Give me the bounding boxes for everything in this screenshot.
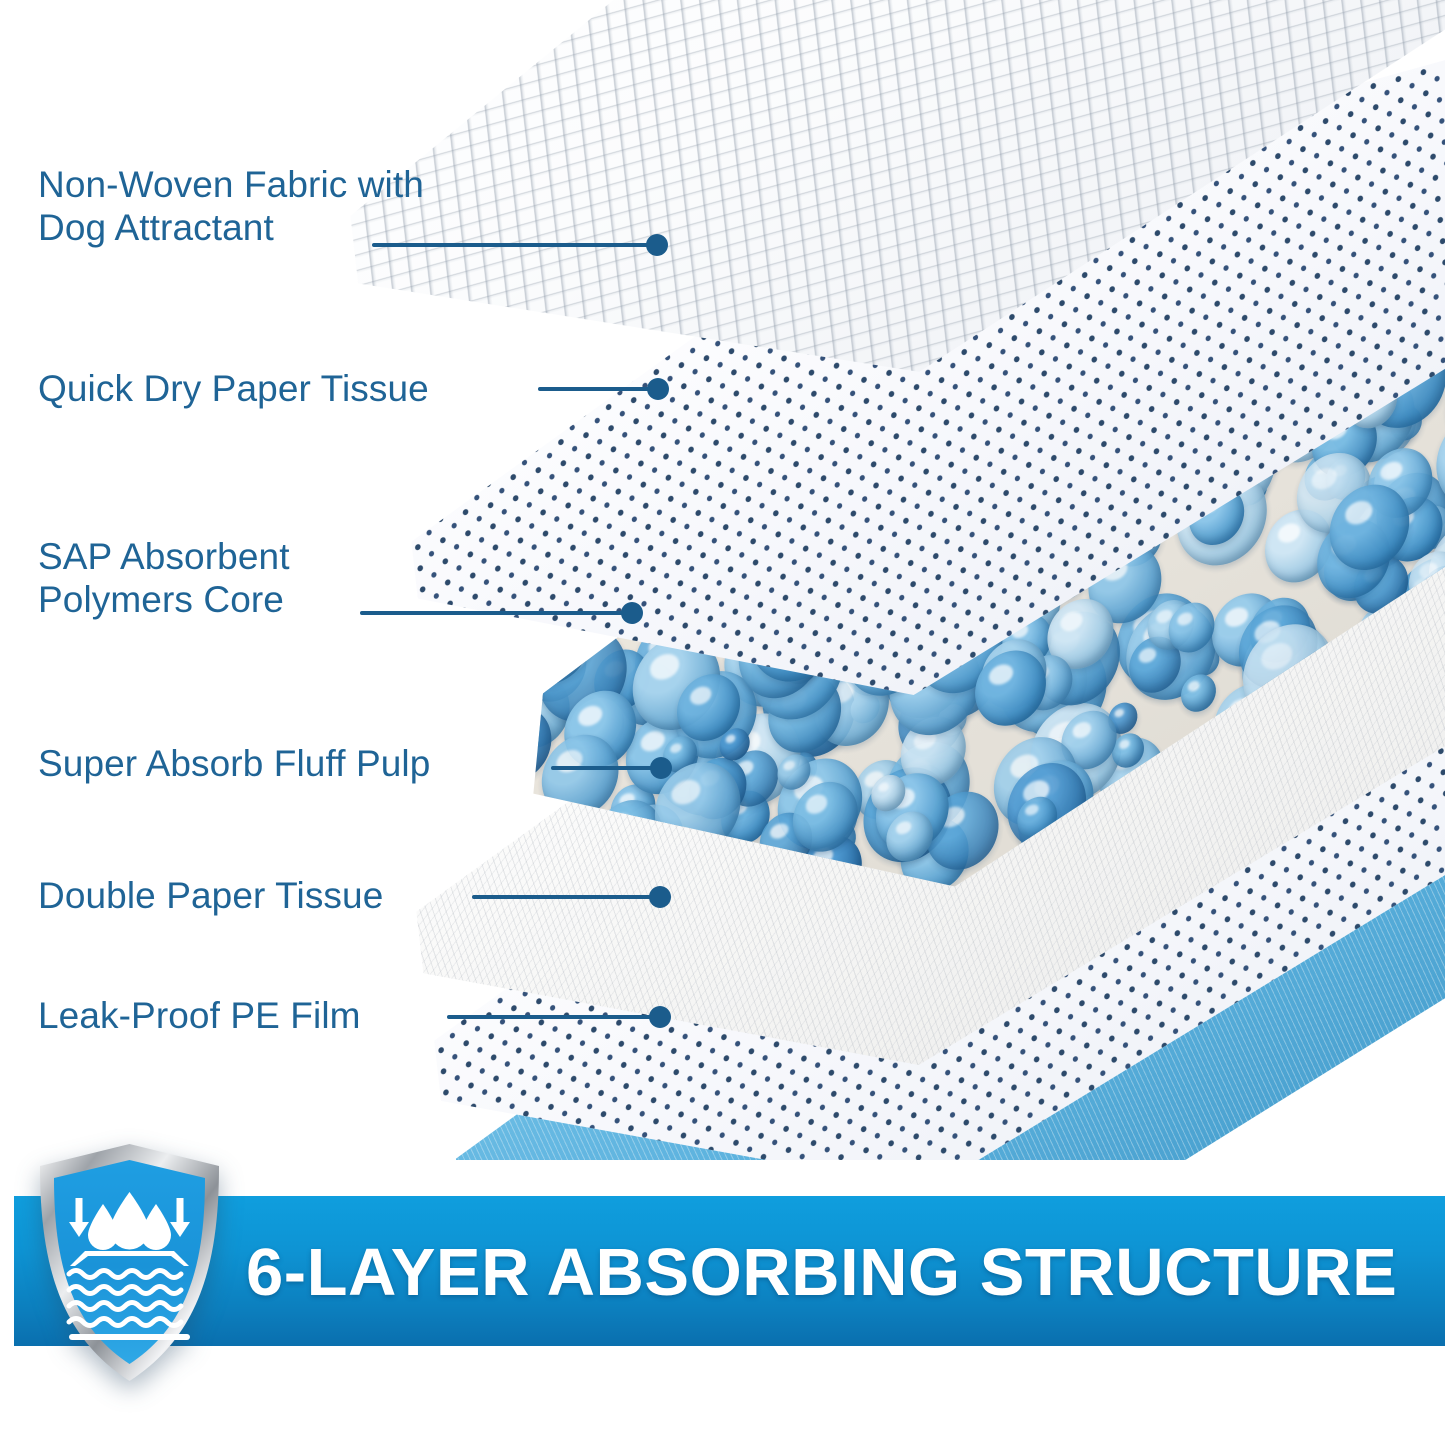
absorbency-shield-badge: [33, 1140, 226, 1385]
callout-label-2: Quick Dry Paper Tissue: [38, 367, 429, 410]
callout-label-5: Double Paper Tissue: [38, 874, 383, 917]
callout-leader-line-3: [360, 611, 632, 615]
callout-endpoint-dot-2: [647, 378, 669, 400]
callout-label-1: Non-Woven Fabric with Dog Attractant: [38, 163, 424, 250]
callout-endpoint-dot-4: [650, 757, 672, 779]
callout-label-3: SAP Absorbent Polymers Core: [38, 535, 290, 622]
callout-leader-line-1: [372, 243, 657, 247]
callout-leader-line-2: [538, 387, 658, 391]
callout-label-6: Leak-Proof PE Film: [38, 994, 361, 1037]
sap-bead: [472, 726, 528, 792]
banner-title: 6-LAYER ABSORBING STRUCTURE: [246, 1213, 1436, 1331]
base-bar-icon: [69, 1334, 190, 1340]
callout-endpoint-dot-6: [649, 1006, 671, 1028]
banner-left-notch: [0, 1196, 14, 1346]
callout-label-4: Super Absorb Fluff Pulp: [38, 742, 430, 785]
callout-leader-line-6: [447, 1015, 660, 1019]
sap-bead: [528, 629, 566, 674]
callout-endpoint-dot-5: [649, 886, 671, 908]
sap-bead: [470, 619, 528, 687]
callout-leader-line-5: [472, 895, 660, 899]
callout-leader-line-4: [551, 766, 661, 770]
sap-bead: [462, 646, 544, 746]
sap-bead: [462, 670, 519, 756]
callout-endpoint-dot-3: [621, 602, 643, 624]
callout-endpoint-dot-1: [646, 234, 668, 256]
sap-bead: [466, 676, 542, 765]
infographic-root: Non-Woven Fabric with Dog AttractantQuic…: [0, 0, 1445, 1440]
